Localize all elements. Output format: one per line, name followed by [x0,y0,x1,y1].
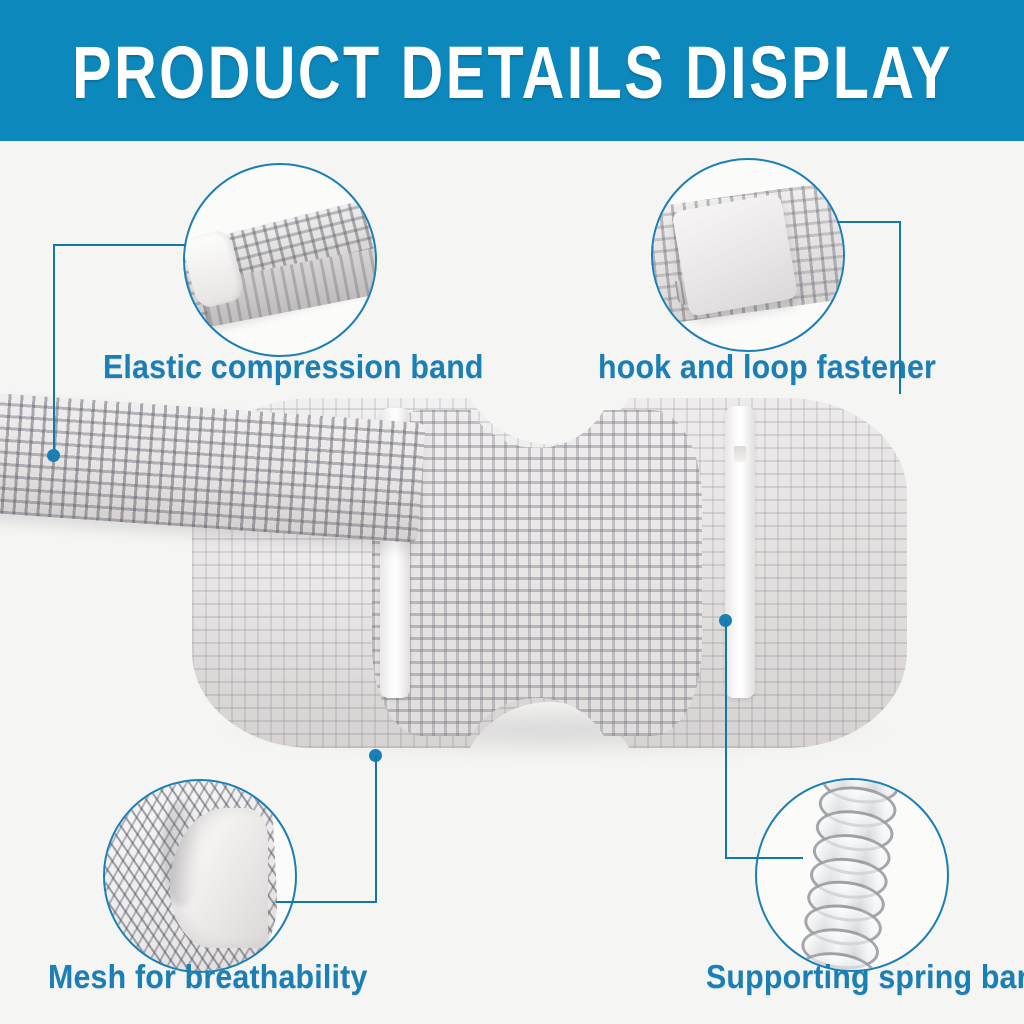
callout-label-elastic-compression-band: Elastic compression band [103,348,484,386]
spring-bar-assembly [800,780,893,970]
callout-label-mesh-for-breathability: Mesh for breathability [48,958,368,996]
hook-loop-patch [671,193,798,317]
channel-notch-icon [734,446,746,462]
detail-photo-elastic-band [185,165,375,355]
product-photo [0,370,1024,790]
leader-line-spring-horizontal [725,857,803,859]
leader-line-mesh-horizontal [276,901,376,903]
leader-line-mesh-vertical [375,755,377,903]
detail-circle-hook-loop [651,158,845,352]
page-title: PRODUCT DETAILS DISPLAY [72,36,953,110]
spring-bar-channel-right [725,406,755,698]
detail-photo-mesh [105,781,295,971]
leader-line-elastic-vertical [53,244,55,456]
callout-label-supporting-spring-bar: Supporting spring bar [706,958,1024,996]
leader-line-spring-vertical [725,620,727,858]
callout-label-hook-and-loop-fastener: hook and loop fastener [598,348,936,386]
leader-dot-elastic [47,449,60,462]
leader-line-hook-horizontal [837,221,901,223]
detail-circle-mesh [103,779,297,973]
detail-photo-spring-bar [757,780,947,970]
detail-photo-hook-loop [653,160,843,350]
detail-circle-elastic-band [183,163,377,357]
detail-circle-spring-bar [755,778,949,972]
header-banner: PRODUCT DETAILS DISPLAY [0,0,1024,141]
mesh-fold-shadow [162,800,200,906]
leader-line-elastic-horizontal [53,244,186,246]
product-details-display-page: PRODUCT DETAILS DISPLAY Elastic compress… [0,0,1024,1024]
